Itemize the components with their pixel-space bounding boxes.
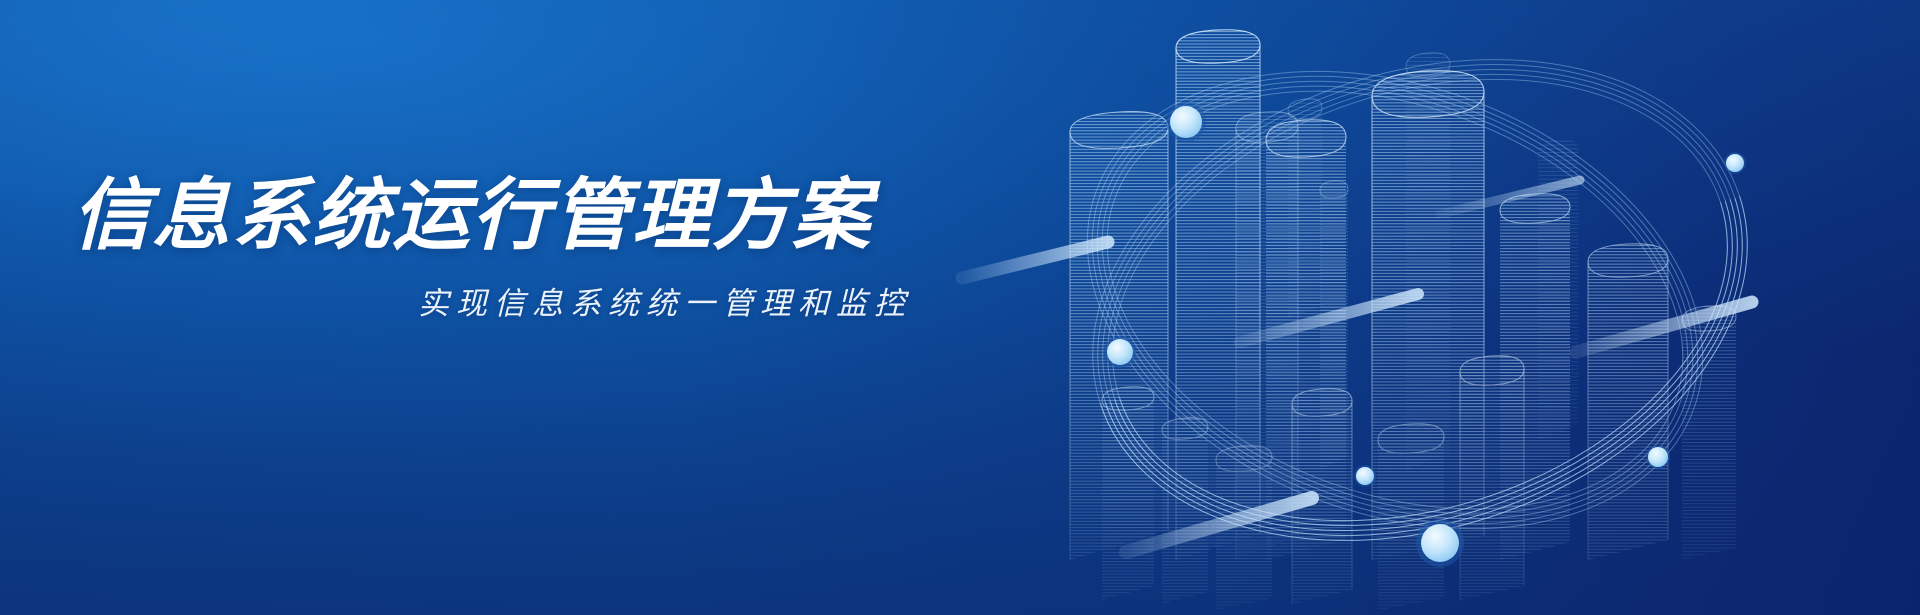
page-title: 信息系统运行管理方案 [72,176,932,256]
banner-text-block: 信息系统运行管理方案 实现信息系统统一管理和监控 [72,176,932,323]
hero-banner: 信息系统运行管理方案 实现信息系统统一管理和监控 [0,0,1920,615]
page-subtitle: 实现信息系统统一管理和监控 [72,278,932,323]
